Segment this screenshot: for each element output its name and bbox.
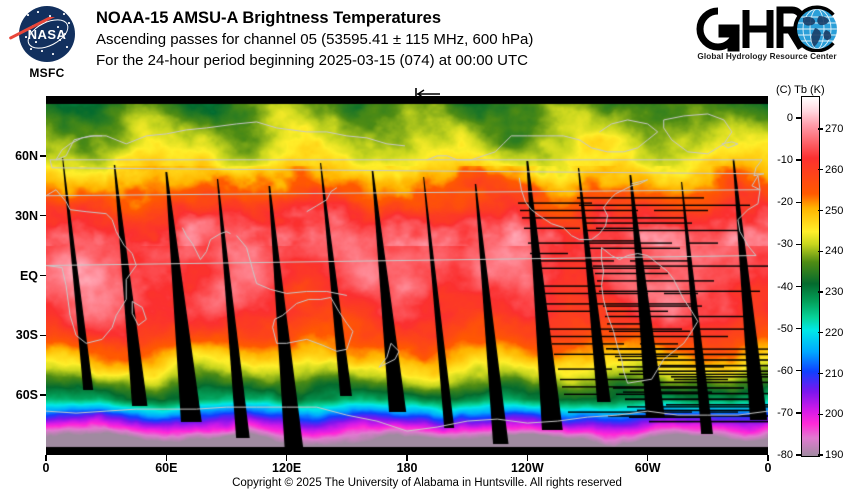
colorbar-tick-celsius: [796, 286, 801, 287]
ascending-node-marker-icon: [415, 88, 441, 100]
ghrc-tagline: Global Hydrology Resource Center: [688, 52, 846, 61]
brightness-temperature-map[interactable]: [46, 96, 768, 455]
ghrc-wordmark-icon: [686, 4, 848, 52]
y-tick: [40, 215, 46, 216]
colorbar-tick-kelvin: [818, 251, 823, 252]
x-tick-label: 120E: [272, 461, 301, 475]
y-tick: [40, 335, 46, 336]
colorbar-label-celsius: 0: [0, 112, 793, 124]
y-tick: [40, 394, 46, 395]
map-raster: [46, 96, 768, 455]
colorbar-tick-celsius: [796, 328, 801, 329]
copyright-notice: Copyright © 2025 The University of Alaba…: [0, 477, 854, 489]
colorbar-tick-kelvin: [818, 332, 823, 333]
colorbar-tick-celsius: [796, 244, 801, 245]
y-tick-label: 30N: [15, 209, 38, 223]
colorbar-label-celsius: -10: [0, 154, 793, 166]
ghrc-logo: Global Hydrology Resource Center: [686, 6, 848, 76]
x-tick-label: 120W: [511, 461, 544, 475]
colorbar-label-kelvin: 190: [825, 449, 843, 461]
colorbar-header: (C) Tb (K): [776, 84, 854, 96]
channel-subtitle: Ascending passes for channel 05 (53595.4…: [96, 29, 676, 50]
colorbar-tick-kelvin: [818, 169, 823, 170]
colorbar-tick-kelvin: [818, 128, 823, 129]
colorbar-tick-celsius: [796, 370, 801, 371]
colorbar-tick-celsius: [796, 412, 801, 413]
x-tick-label: 60E: [155, 461, 177, 475]
figure-root: NASA MSFC NOAA-15 AMSU-A Brightness Temp…: [0, 0, 854, 502]
colorbar: [801, 96, 820, 457]
colorbar-label-celsius: -70: [0, 407, 793, 419]
x-tick-label: 60W: [635, 461, 661, 475]
colorbar-tick-celsius: [796, 117, 801, 118]
map-plot-frame[interactable]: [46, 96, 768, 455]
colorbar-label-celsius: -80: [0, 449, 793, 461]
colorbar-tick-kelvin: [818, 454, 823, 455]
colorbar-tick-kelvin: [818, 414, 823, 415]
title-block: NOAA-15 AMSU-A Brightness Temperatures A…: [96, 8, 676, 71]
nasa-swoosh: [6, 17, 68, 51]
colorbar-tick-kelvin: [818, 210, 823, 211]
colorbar-label-kelvin: 260: [825, 164, 843, 176]
colorbar-tick-celsius: [796, 454, 801, 455]
y-tick-label: 60S: [16, 388, 38, 402]
colorbar-label-kelvin: 200: [825, 408, 843, 420]
colorbar-label-celsius: -20: [0, 196, 793, 208]
nasa-meatball-icon: NASA MSFC: [8, 4, 86, 88]
x-tick-label: 0: [765, 461, 772, 475]
colorbar-label-celsius: -40: [0, 281, 793, 293]
y-tick: [40, 275, 46, 276]
page-title: NOAA-15 AMSU-A Brightness Temperatures: [96, 8, 676, 29]
x-tick-label: 180: [397, 461, 418, 475]
colorbar-tick-celsius: [796, 202, 801, 203]
x-tick-label: 0: [43, 461, 50, 475]
colorbar-label-kelvin: 250: [825, 205, 843, 217]
colorbar-label-kelvin: 270: [825, 123, 843, 135]
colorbar-label-celsius: -30: [0, 238, 793, 250]
nasa-center-label: MSFC: [8, 66, 86, 80]
header: NASA MSFC NOAA-15 AMSU-A Brightness Temp…: [0, 0, 854, 92]
colorbar-tick-celsius: [796, 159, 801, 160]
period-subtitle: For the 24-hour period beginning 2025-03…: [96, 50, 676, 71]
colorbar-label-celsius: -60: [0, 365, 793, 377]
colorbar-label-kelvin: 230: [825, 286, 843, 298]
colorbar-label-kelvin: 220: [825, 327, 843, 339]
colorbar-label-kelvin: 210: [825, 368, 843, 380]
colorbar-label-celsius: -50: [0, 323, 793, 335]
colorbar-tick-kelvin: [818, 373, 823, 374]
colorbar-tick-kelvin: [818, 291, 823, 292]
colorbar-label-kelvin: 240: [825, 245, 843, 257]
